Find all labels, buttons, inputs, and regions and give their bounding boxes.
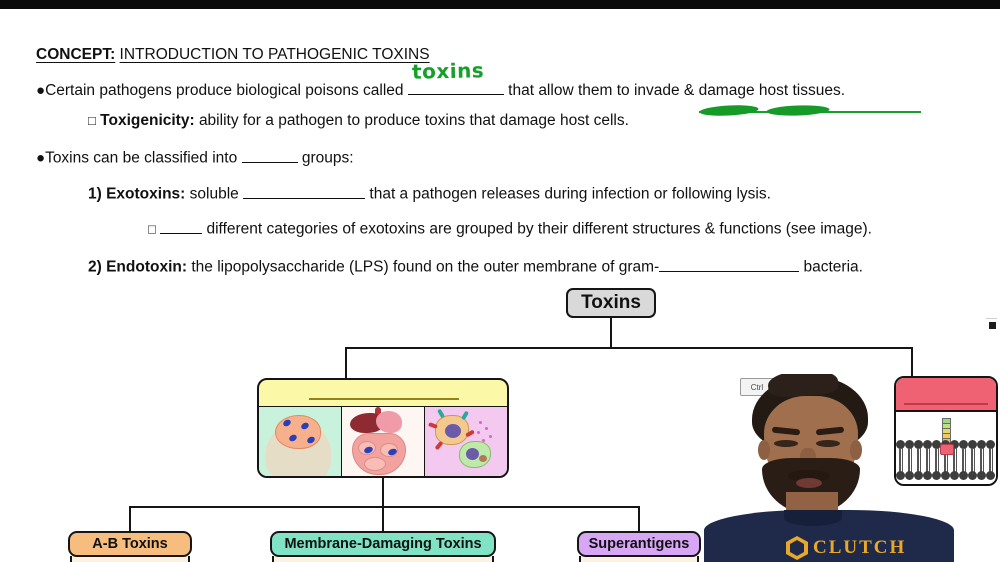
nucleus-icon [466, 448, 479, 460]
node-membrane-damaging-toxins[interactable]: Membrane-Damaging Toxins [270, 531, 496, 557]
cytokine-dot-icon [479, 421, 482, 424]
organs-panel-icon [341, 407, 424, 478]
brain-icon [275, 415, 321, 449]
connector-ab-drop [129, 506, 131, 531]
card-header [259, 380, 507, 406]
connector-mdt-drop [382, 506, 384, 531]
intestine-coil-icon [364, 457, 386, 471]
cursor-trail [986, 318, 997, 319]
card-blank-underline [309, 398, 459, 400]
shirt-logo-text: CLUTCH [813, 537, 906, 559]
receptor-spike-icon [435, 441, 444, 450]
t-cell-icon [459, 441, 491, 468]
stomach-icon [376, 411, 402, 433]
connector-card-stem [382, 478, 384, 507]
brain-panel-icon [259, 407, 341, 478]
cytokine-dot-icon [489, 435, 492, 438]
slide-canvas: CONCEPT: INTRODUCTION TO PATHOGENIC TOXI… [0, 0, 1000, 562]
cytokine-dot-icon [482, 439, 485, 442]
presenter-figure: CLUTCH [708, 374, 938, 562]
nucleus-icon [445, 424, 461, 438]
shirt-logo: CLUTCH [786, 536, 906, 560]
presenter-webcam-overlay: Ctrl CLUTCH [690, 374, 1000, 562]
connector-bottom-bus [129, 506, 639, 508]
node-ab-toxins[interactable]: A-B Toxins [68, 531, 192, 557]
mouse-cursor[interactable] [989, 322, 996, 329]
ear-icon [850, 440, 862, 460]
mouth-icon [796, 478, 822, 488]
collar-icon [784, 510, 842, 526]
connector-root-stem [610, 318, 612, 348]
cytokine-dot-icon [485, 427, 488, 430]
node-superantigens[interactable]: Superantigens [577, 531, 701, 557]
lps-anchor-icon [940, 444, 954, 455]
exotoxin-image-card[interactable] [257, 378, 509, 478]
connector-top-bus [345, 347, 913, 349]
connector-card-drop [345, 347, 347, 378]
eye-icon [774, 440, 798, 447]
receptor-spike-icon [461, 411, 469, 421]
organelle-icon [479, 455, 487, 462]
connector-sa-drop [638, 506, 640, 531]
immune-cells-panel-icon [424, 407, 507, 478]
hexagon-icon [786, 536, 808, 560]
card-illustrations [259, 406, 507, 478]
ear-icon [758, 440, 770, 460]
node-toxins-root[interactable]: Toxins [566, 288, 656, 318]
receptor-spike-icon [437, 409, 445, 419]
cytokine-dot-icon [477, 431, 480, 434]
eye-icon [816, 440, 840, 447]
connector-right-drop [911, 347, 913, 376]
